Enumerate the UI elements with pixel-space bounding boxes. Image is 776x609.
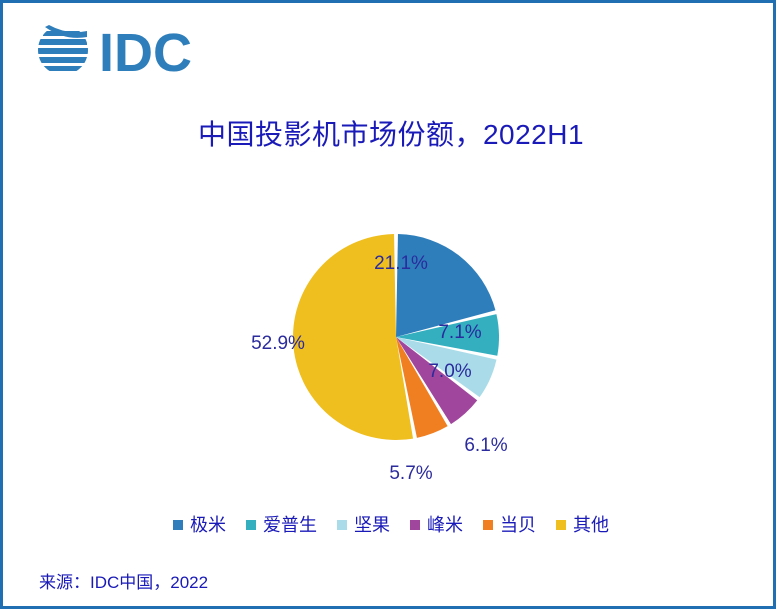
idc-logo: IDC	[35, 21, 225, 79]
idc-wordmark: IDC	[99, 23, 192, 79]
legend-swatch-icon	[483, 520, 493, 530]
pie-chart-svg: 21.1%7.1%7.0%6.1%5.7%52.9%	[238, 191, 554, 491]
pie-slice-label: 5.7%	[389, 463, 432, 484]
chart-canvas: IDC 中国投影机市场份额，2022H1 21.1%7.1%7.0%6.1%5.…	[0, 0, 776, 609]
legend-item-label: 当贝	[500, 516, 536, 534]
source-note: 来源：IDC中国，2022	[39, 568, 208, 593]
pie-slice-label: 21.1%	[374, 253, 428, 274]
legend-item-label: 峰米	[427, 516, 463, 534]
idc-globe-icon: IDC	[35, 21, 225, 79]
legend-item-label: 其他	[573, 516, 609, 534]
pie-slice-label: 52.9%	[251, 333, 305, 354]
chart-legend: 极米爱普生坚果峰米当贝其他	[3, 516, 776, 534]
legend-item-label: 坚果	[354, 516, 390, 534]
legend-item[interactable]: 峰米	[410, 516, 463, 534]
legend-swatch-icon	[173, 520, 183, 530]
legend-swatch-icon	[246, 520, 256, 530]
chart-title: 中国投影机市场份额，2022H1	[3, 113, 776, 153]
legend-item[interactable]: 爱普生	[246, 516, 317, 534]
legend-item[interactable]: 其他	[556, 516, 609, 534]
legend-item-label: 极米	[190, 516, 226, 534]
pie-chart: 21.1%7.1%7.0%6.1%5.7%52.9%	[238, 191, 554, 491]
pie-slice-label: 7.1%	[438, 322, 481, 343]
legend-swatch-icon	[556, 520, 566, 530]
pie-slice-label: 7.0%	[428, 361, 471, 382]
legend-swatch-icon	[410, 520, 420, 530]
legend-item[interactable]: 坚果	[337, 516, 390, 534]
legend-item-label: 爱普生	[263, 516, 317, 534]
legend-swatch-icon	[337, 520, 347, 530]
pie-slice-label: 6.1%	[464, 435, 507, 456]
legend-item[interactable]: 当贝	[483, 516, 536, 534]
legend-item[interactable]: 极米	[173, 516, 226, 534]
